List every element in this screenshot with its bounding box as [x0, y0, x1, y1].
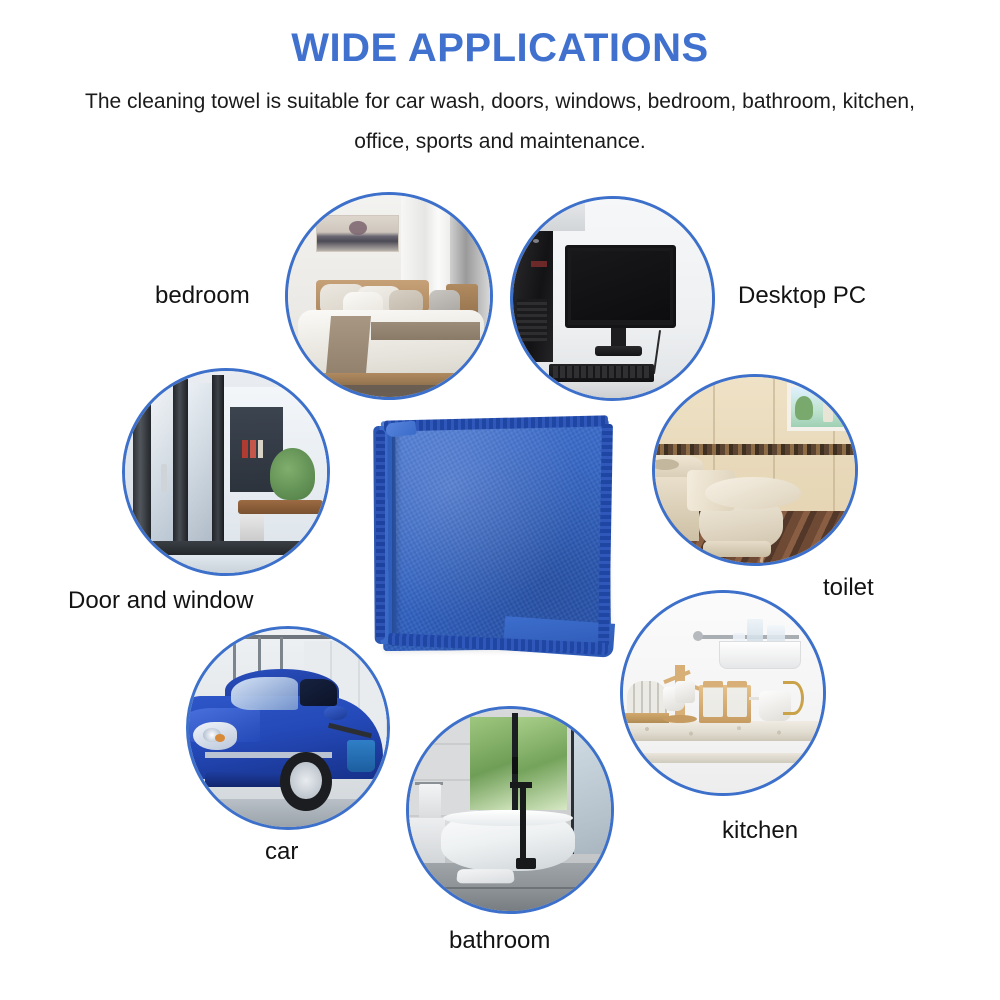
dining-table — [238, 500, 323, 514]
pc-tower-vent — [517, 299, 547, 343]
door-sill — [125, 541, 327, 555]
window-plant — [795, 396, 813, 420]
application-node-car — [186, 626, 390, 830]
label-kitchen: kitchen — [722, 817, 798, 845]
keyboard-keys — [553, 366, 651, 378]
monitor-neck — [611, 328, 627, 348]
bath-mat — [457, 869, 515, 883]
white-mug — [675, 681, 695, 703]
mug-tree-base — [663, 715, 697, 723]
countertop-speckle — [623, 721, 823, 741]
bathtub-rim — [443, 810, 572, 826]
bedroom-bed-runner — [371, 322, 480, 340]
kitchen-photo — [620, 590, 826, 796]
toilet-base — [703, 541, 771, 558]
door-frame — [173, 379, 187, 565]
pc-power-button — [521, 239, 527, 243]
towel-texture — [381, 419, 611, 651]
car-wash-photo — [186, 626, 390, 830]
label-car: car — [265, 838, 298, 866]
label-toilet: toilet — [823, 574, 874, 602]
application-node-toilet — [652, 374, 858, 566]
bathroom-floor-seam — [409, 887, 611, 889]
microfiber-cleaning-towel — [374, 416, 618, 660]
bathroom-photo — [406, 706, 614, 914]
door-glass-panel — [188, 383, 212, 561]
desktop-pc-photo — [510, 196, 715, 401]
application-node-desktop-pc — [510, 196, 715, 401]
pc-tower-logo — [531, 261, 547, 267]
window-handle — [512, 757, 518, 773]
application-node-kitchen — [620, 590, 826, 796]
storage-jar — [703, 681, 723, 717]
infographic-canvas: WIDE APPLICATIONS The cleaning towel is … — [0, 0, 1000, 1000]
page-title: WIDE APPLICATIONS — [0, 26, 1000, 71]
car-side-mirror — [324, 706, 348, 720]
door-frame — [133, 379, 151, 565]
kitchen-rack-mount — [693, 631, 703, 641]
label-bedroom: bedroom — [155, 282, 250, 310]
office-shelf — [525, 199, 585, 231]
car-door-sill — [205, 772, 292, 788]
label-desktop-pc: Desktop PC — [738, 282, 866, 310]
interior-floor — [125, 553, 327, 573]
bathroom-vanity — [409, 818, 445, 862]
car-indicator-lamp — [215, 734, 225, 742]
door-and-window-photo — [122, 368, 330, 576]
hanging-towel — [419, 784, 441, 820]
tub-faucet-base — [516, 858, 536, 868]
toilet-photo — [652, 374, 858, 566]
door-handle — [161, 464, 167, 492]
storage-jar — [727, 681, 747, 717]
monitor-stand — [595, 346, 643, 356]
kitchen-lower-shelf — [643, 753, 807, 763]
label-door-and-window: Door and window — [68, 587, 253, 615]
application-node-bathroom — [406, 706, 614, 914]
car-side-window — [300, 679, 338, 707]
towel-fold-shadow — [392, 424, 402, 646]
label-bathroom: bathroom — [449, 927, 550, 955]
toilet-seat — [705, 477, 801, 509]
application-node-door-and-window — [122, 368, 330, 576]
shelf-book — [258, 440, 263, 458]
kitchen-wall-rack — [719, 641, 801, 669]
toilet-mosaic-border — [655, 444, 855, 455]
sink-bowl — [652, 459, 679, 470]
wash-bucket — [347, 740, 375, 772]
shower-enclosure — [571, 717, 614, 854]
car-wheel-rim — [290, 762, 322, 800]
page-subtitle: The cleaning towel is suitable for car w… — [60, 82, 940, 162]
pc-usb-port — [533, 239, 539, 243]
car-wash-rail — [205, 635, 371, 639]
bathroom-window-glass — [470, 717, 514, 810]
towel-folded-edge-hem — [376, 430, 385, 640]
monitor-screen — [571, 251, 671, 321]
car-windshield — [231, 677, 298, 711]
pc-tower — [513, 231, 553, 362]
shelf-book — [250, 440, 256, 458]
tub-faucet — [520, 782, 526, 863]
window-bottle — [823, 392, 833, 422]
shelf-book — [242, 440, 248, 458]
kettle-handle — [783, 681, 804, 715]
interior-plant — [270, 448, 314, 501]
